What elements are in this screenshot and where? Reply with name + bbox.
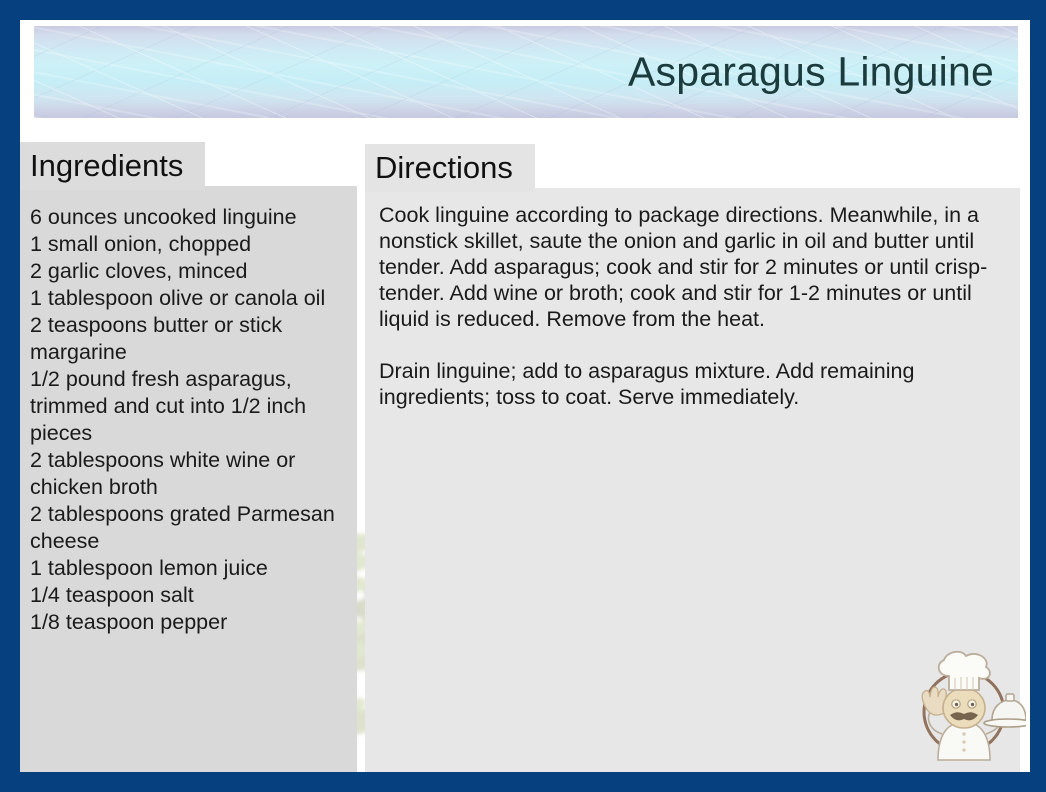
header-banner: Asparagus Linguine — [34, 26, 1018, 118]
section-heading-ingredients: Ingredients — [20, 142, 205, 190]
list-item: 2 tablespoons white wine or chicken brot… — [30, 447, 345, 501]
ingredients-body: 6 ounces uncooked linguine 1 small onion… — [20, 186, 357, 636]
recipe-page: Asparagus Linguine Ingredients 6 ounces … — [20, 20, 1030, 772]
page-title: Asparagus Linguine — [628, 49, 994, 96]
directions-body: Cook linguine according to package direc… — [365, 188, 1020, 410]
list-item: 1 tablespoon olive or canola oil — [30, 285, 345, 312]
section-heading-directions: Directions — [365, 144, 535, 192]
directions-paragraph: Cook linguine according to package direc… — [379, 202, 996, 332]
list-item: 2 garlic cloves, minced — [30, 258, 345, 285]
ingredients-list: 6 ounces uncooked linguine 1 small onion… — [30, 204, 345, 636]
directions-paragraph: Drain linguine; add to asparagus mixture… — [379, 358, 996, 410]
list-item: 1/4 teaspoon salt — [30, 582, 345, 609]
list-item: 1/8 teaspoon pepper — [30, 609, 345, 636]
ingredients-panel: 6 ounces uncooked linguine 1 small onion… — [20, 186, 357, 772]
list-item: 1 small onion, chopped — [30, 231, 345, 258]
list-item: 2 teaspoons butter or stick margarine — [30, 312, 345, 366]
recipe-card: Asparagus Linguine Ingredients 6 ounces … — [0, 0, 1046, 792]
list-item: 1/2 pound fresh asparagus, trimmed and c… — [30, 366, 345, 447]
list-item: 6 ounces uncooked linguine — [30, 204, 345, 231]
list-item: 2 tablespoons grated Parmesan cheese — [30, 501, 345, 555]
list-item: 1 tablespoon lemon juice — [30, 555, 345, 582]
chef-mascot-logo — [902, 642, 1026, 766]
